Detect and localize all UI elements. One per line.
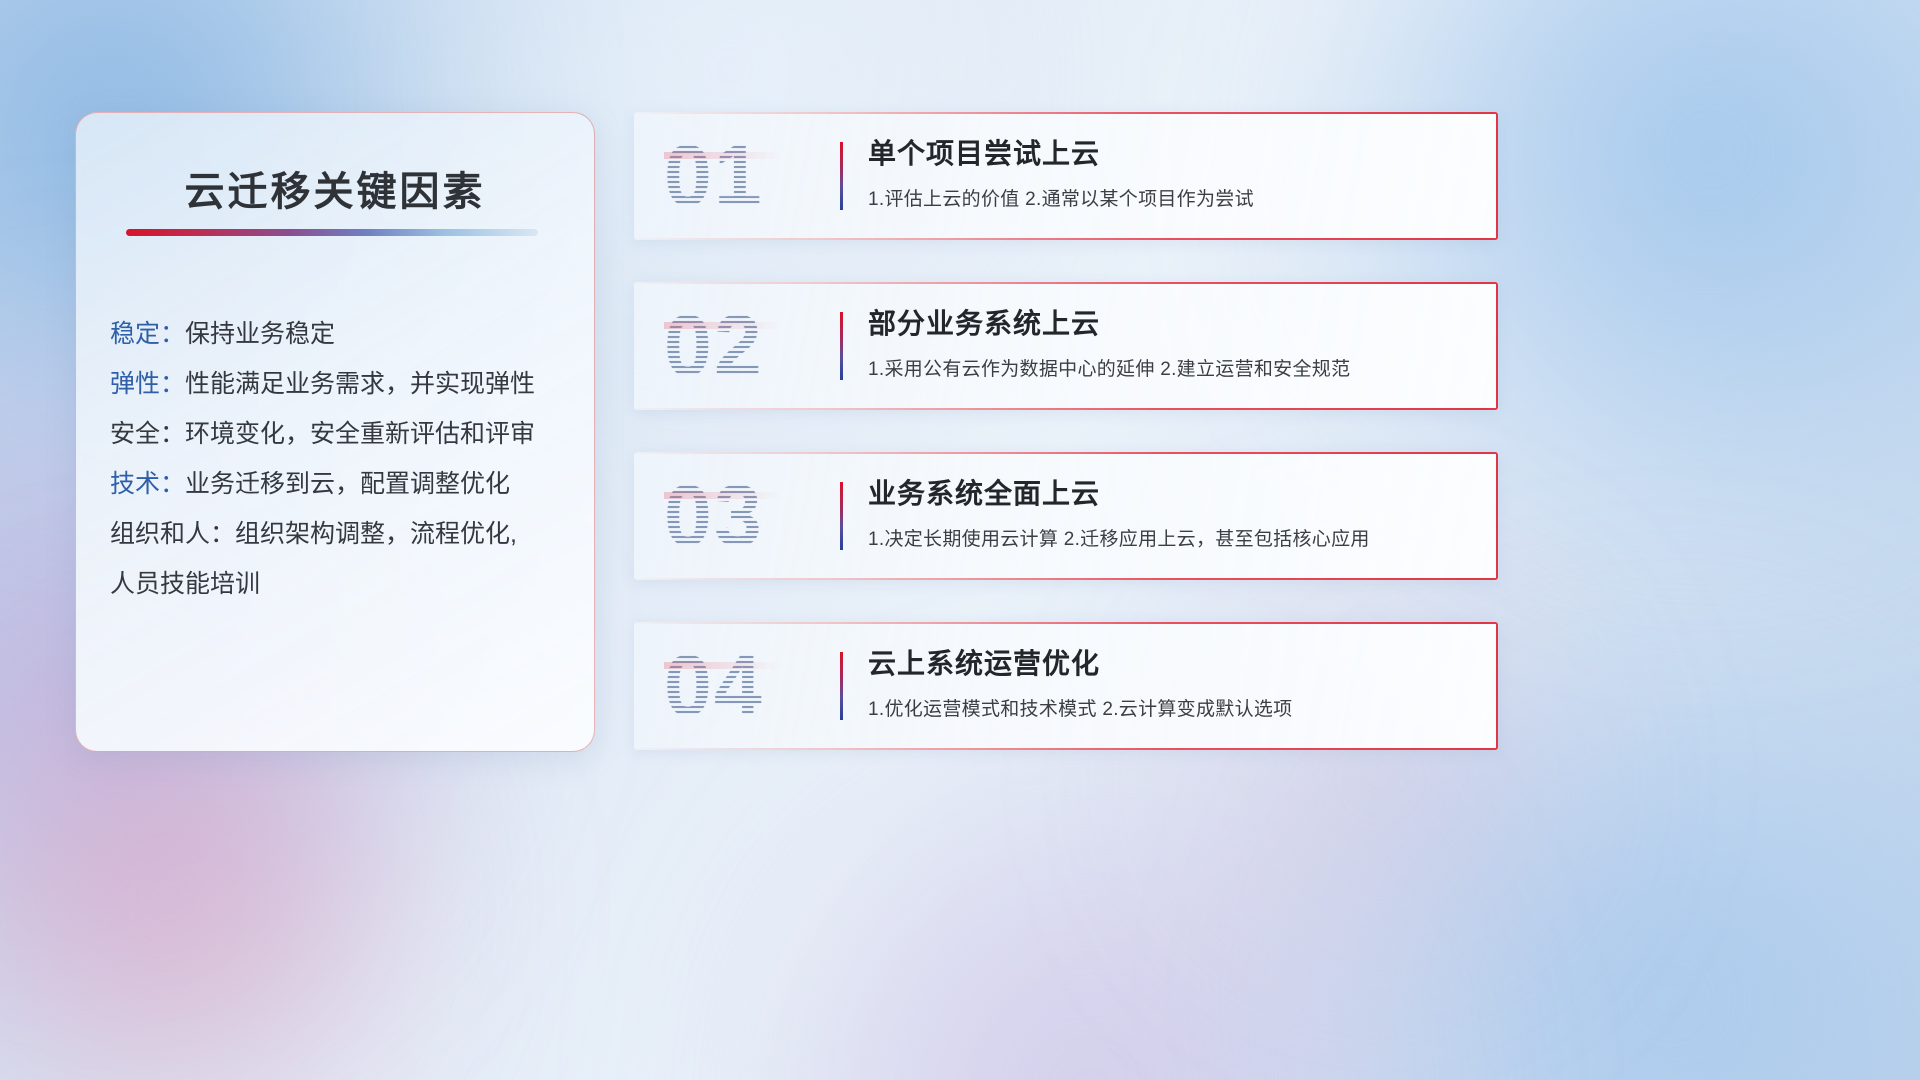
- card-divider: [840, 652, 843, 720]
- key-factor-label: 弹性：: [110, 370, 185, 398]
- stage-number-text: 03: [664, 466, 832, 566]
- card-divider: [840, 312, 843, 380]
- card-description: 1.决定长期使用云计算 2.迁移应用上云，甚至包括核心应用: [868, 524, 1472, 551]
- stage-number-text: 02: [664, 296, 832, 396]
- key-factor-row: 人员技能培训: [110, 559, 572, 609]
- key-factor-row: 弹性：性能满足业务需求，并实现弹性: [110, 359, 572, 409]
- key-factor-text: 环境变化，安全重新评估和评审: [185, 420, 535, 448]
- stage-card[interactable]: 02部分业务系统上云1.采用公有云作为数据中心的延伸 2.建立运营和安全规范: [634, 282, 1498, 410]
- key-factor-text: 人员技能培训: [110, 570, 260, 598]
- card-title: 业务系统全面上云: [868, 474, 1472, 514]
- card-body: 云上系统运营优化1.优化运营模式和技术模式 2.云计算变成默认选项: [868, 644, 1472, 721]
- card-description: 1.采用公有云作为数据中心的延伸 2.建立运营和安全规范: [868, 354, 1472, 381]
- title-accent-rule: [126, 229, 538, 236]
- stage-number-text: 01: [664, 126, 832, 226]
- card-description: 1.评估上云的价值 2.通常以某个项目作为尝试: [868, 184, 1472, 211]
- key-factor-row: 技术：业务迁移到云，配置调整优化: [110, 459, 572, 509]
- card-divider: [840, 142, 843, 210]
- key-factors-panel: 云迁移关键因素 稳定：保持业务稳定弹性：性能满足业务需求，并实现弹性安全：环境变…: [75, 112, 595, 752]
- card-body: 业务系统全面上云1.决定长期使用云计算 2.迁移应用上云，甚至包括核心应用: [868, 474, 1472, 551]
- migration-stage-cards: 01单个项目尝试上云1.评估上云的价值 2.通常以某个项目作为尝试02部分业务系…: [634, 112, 1498, 792]
- key-factors-list: 稳定：保持业务稳定弹性：性能满足业务需求，并实现弹性安全：环境变化，安全重新评估…: [110, 309, 572, 609]
- key-factor-text: 组织架构调整，流程优化,: [235, 520, 517, 548]
- key-factor-label: 安全：: [110, 420, 185, 448]
- stage-card[interactable]: 04云上系统运营优化1.优化运营模式和技术模式 2.云计算变成默认选项: [634, 622, 1498, 750]
- key-factor-row: 安全：环境变化，安全重新评估和评审: [110, 409, 572, 459]
- key-factor-label: 组织和人：: [110, 520, 235, 548]
- panel-title: 云迁移关键因素: [76, 159, 594, 217]
- card-title: 单个项目尝试上云: [868, 134, 1472, 174]
- key-factor-text: 性能满足业务需求，并实现弹性: [185, 370, 535, 398]
- card-body: 单个项目尝试上云1.评估上云的价值 2.通常以某个项目作为尝试: [868, 134, 1472, 211]
- stage-card[interactable]: 03业务系统全面上云1.决定长期使用云计算 2.迁移应用上云，甚至包括核心应用: [634, 452, 1498, 580]
- card-title: 云上系统运营优化: [868, 644, 1472, 684]
- card-body: 部分业务系统上云1.采用公有云作为数据中心的延伸 2.建立运营和安全规范: [868, 304, 1472, 381]
- key-factor-text: 保持业务稳定: [185, 320, 335, 348]
- card-right-accent: [1496, 282, 1498, 410]
- stage-number-text: 04: [664, 636, 832, 736]
- card-right-accent: [1496, 452, 1498, 580]
- card-right-accent: [1496, 112, 1498, 240]
- stage-card[interactable]: 01单个项目尝试上云1.评估上云的价值 2.通常以某个项目作为尝试: [634, 112, 1498, 240]
- key-factor-row: 组织和人：组织架构调整，流程优化,: [110, 509, 572, 559]
- card-description: 1.优化运营模式和技术模式 2.云计算变成默认选项: [868, 694, 1472, 721]
- key-factor-row: 稳定：保持业务稳定: [110, 309, 572, 359]
- key-factor-label: 稳定：: [110, 320, 185, 348]
- key-factor-label: 技术：: [110, 470, 185, 498]
- stage-number: 03: [664, 466, 832, 566]
- key-factor-text: 业务迁移到云，配置调整优化: [185, 470, 510, 498]
- stage-number: 01: [664, 126, 832, 226]
- card-divider: [840, 482, 843, 550]
- stage-number: 04: [664, 636, 832, 736]
- card-title: 部分业务系统上云: [868, 304, 1472, 344]
- stage-number: 02: [664, 296, 832, 396]
- card-right-accent: [1496, 622, 1498, 750]
